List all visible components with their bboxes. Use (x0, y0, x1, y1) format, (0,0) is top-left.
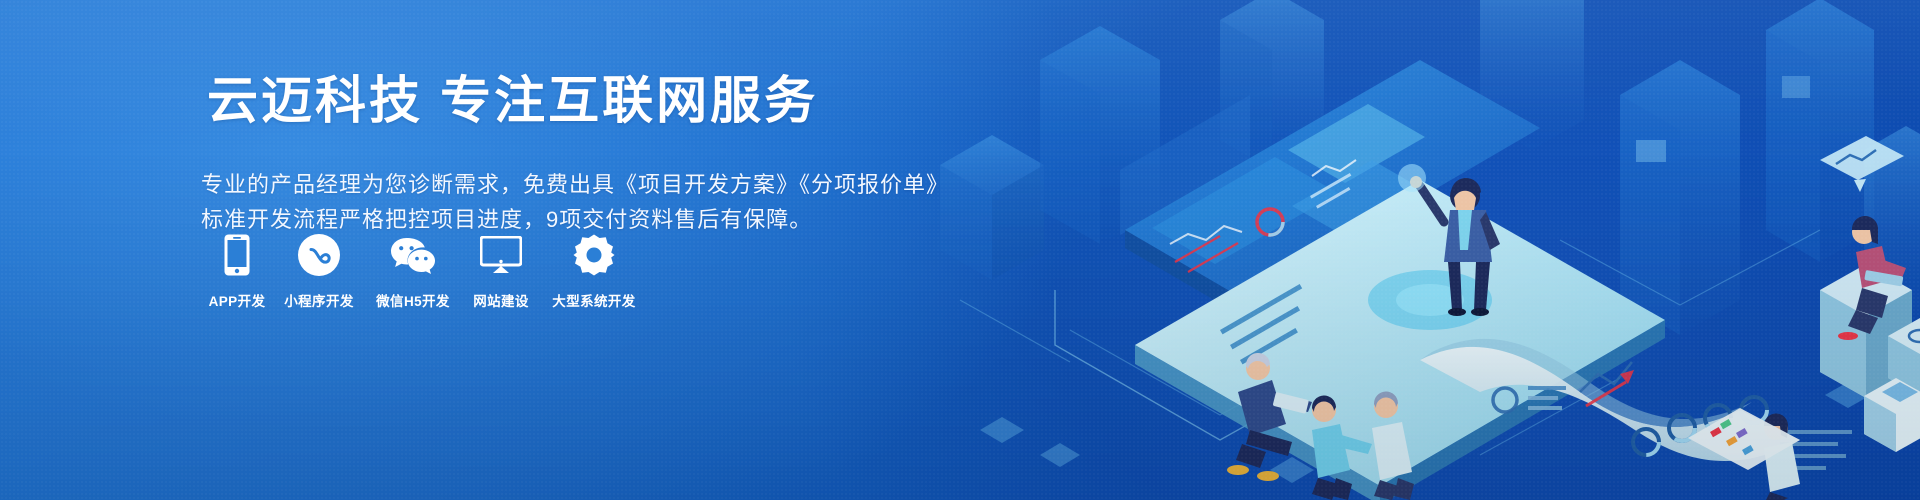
illustration (920, 0, 1920, 500)
service-item-app[interactable]: APP开发 (208, 232, 266, 310)
service-list: APP开发 小程序开发 (208, 232, 640, 310)
service-label: 网站建设 (468, 290, 534, 310)
service-label: 大型系统开发 (548, 290, 640, 310)
service-item-website[interactable]: 网站建设 (468, 232, 534, 310)
mini-program-icon (280, 232, 358, 278)
mobile-phone-icon (208, 232, 266, 278)
subtitle-line-1: 专业的产品经理为您诊断需求，免费出具《项目开发方案》《分项报价单》 (201, 168, 949, 202)
service-item-miniprogram[interactable]: 小程序开发 (280, 232, 358, 310)
service-label: APP开发 (208, 290, 266, 310)
service-label: 微信H5开发 (372, 290, 454, 310)
service-item-large-system[interactable]: 大型系统开发 (548, 232, 640, 310)
service-label: 小程序开发 (280, 290, 358, 310)
hero-banner: 云迈科技 专注互联网服务 专业的产品经理为您诊断需求，免费出具《项目开发方案》《… (0, 0, 1920, 500)
wechat-icon (372, 232, 454, 278)
service-item-wechat-h5[interactable]: 微信H5开发 (372, 232, 454, 310)
gear-icon (548, 232, 640, 278)
page-title: 云迈科技 专注互联网服务 (207, 71, 818, 131)
monitor-icon (468, 232, 534, 278)
